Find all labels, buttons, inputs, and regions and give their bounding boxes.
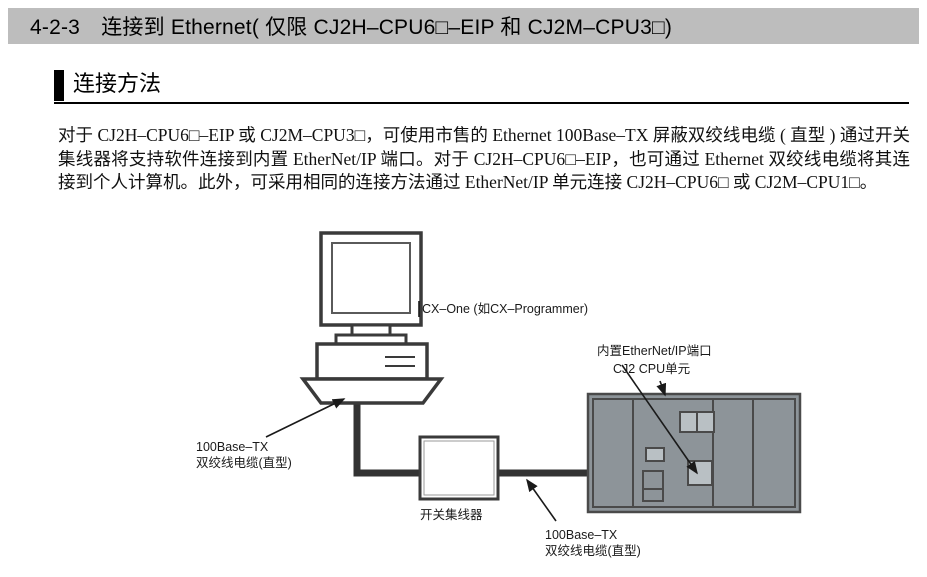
connection-diagram: CX–One (如CX–Programmer) 内置EtherNet/IP端口 … (0, 215, 927, 577)
leader-line-cable-left (266, 399, 344, 437)
computer-base-unit (317, 344, 427, 379)
section-header-bar: 4-2-3 连接到 Ethernet( 仅限 CJ2H–CPU6□–EIP 和 … (8, 8, 919, 44)
label-cable-left-line2: 双绞线电缆(直型) (196, 455, 292, 471)
label-cable-right-line2: 双绞线电缆(直型) (545, 543, 641, 559)
plc-rack-graphic (588, 394, 800, 512)
subheading-block: 连接方法 (54, 68, 909, 108)
body-paragraph: 对于 CJ2H–CPU6□–EIP 或 CJ2M–CPU3□，可使用市售的 Et… (58, 124, 910, 195)
section-title: 4-2-3 连接到 Ethernet( 仅限 CJ2H–CPU6□–EIP 和 … (8, 11, 672, 41)
cpu-card-slot-lower (643, 489, 663, 501)
cpu-card-slot-upper (643, 471, 663, 489)
label-switching-hub: 开关集线器 (420, 507, 483, 523)
subheading-text: 连接方法 (73, 68, 161, 100)
label-cable-left-line1: 100Base–TX (196, 439, 292, 455)
monitor-screen (332, 243, 410, 313)
leader-line-cable-right (527, 480, 556, 521)
computer-graphic (303, 233, 441, 403)
label-cj2-cpu-unit: CJ2 CPU单元 (613, 361, 690, 377)
plc-unit-power-supply (593, 399, 633, 507)
body-paragraph-block: 对于 CJ2H–CPU6□–EIP 或 CJ2M–CPU3□，可使用市售的 Et… (58, 124, 910, 195)
plc-unit-io-2 (753, 399, 795, 507)
label-cable-left: 100Base–TX 双绞线电缆(直型) (196, 439, 292, 471)
switching-hub-graphic (420, 437, 498, 499)
label-builtin-ethernet-port: 内置EtherNet/IP端口 (597, 343, 712, 359)
plc-unit-io-1 (713, 399, 753, 507)
label-cable-right-line1: 100Base–TX (545, 527, 641, 543)
cpu-switch (646, 448, 664, 461)
label-cable-right: 100Base–TX 双绞线电缆(直型) (545, 527, 641, 559)
label-cx-one: CX–One (如CX–Programmer) (422, 301, 588, 317)
keyboard (303, 379, 441, 403)
subheading-marker-bar (54, 70, 64, 101)
switching-hub-inner (424, 441, 494, 495)
subheading-divider (54, 102, 909, 104)
